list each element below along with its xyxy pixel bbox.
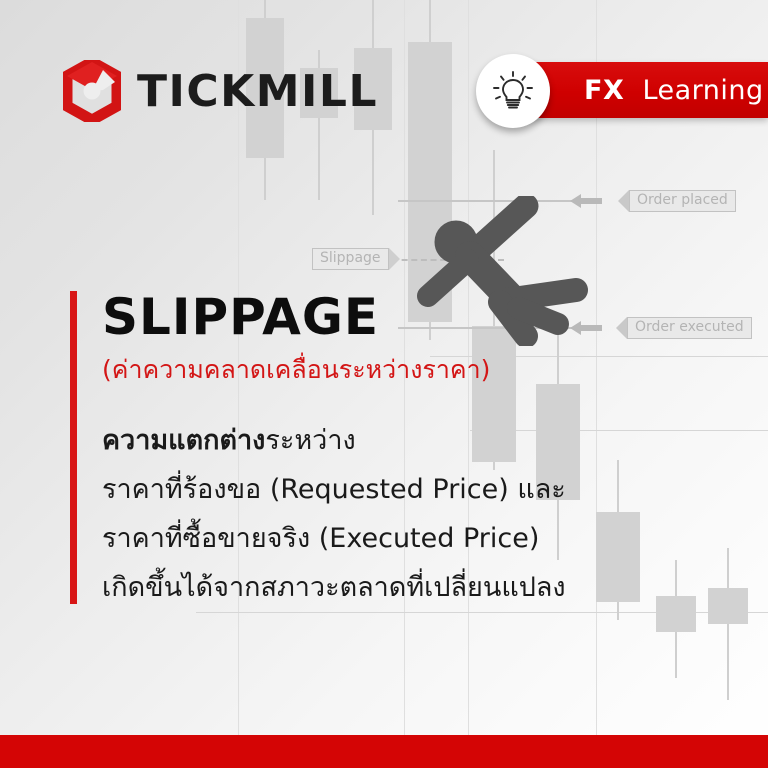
lightbulb-badge [476, 54, 550, 128]
body-line-bold: ความแตกต่าง [102, 425, 265, 456]
hexagon-logo-icon [63, 60, 121, 122]
bottom-red-bar [0, 735, 768, 768]
logo-wordmark: TICKMILL [137, 66, 378, 117]
candlestick [656, 560, 696, 678]
order-placed-callout: Order placed [618, 190, 736, 212]
tickmill-logo: TICKMILL [63, 60, 378, 122]
slippage-label: Slippage [312, 248, 389, 270]
body-line: ความแตกต่างระหว่าง [102, 416, 662, 465]
main-content: SLIPPAGE (ค่าความคลาดเคลื่อนระหว่างราคา)… [102, 288, 662, 612]
body-line-rest: ราคาที่ร้องขอ (Requested Price) และ [102, 474, 566, 505]
body-line: ราคาที่ร้องขอ (Requested Price) และ [102, 465, 662, 514]
body-line-rest: ราคาที่ซื้อขายจริง (Executed Price) [102, 523, 539, 554]
body-line: เกิดขึ้นได้จากสภาวะตลาดที่เปลี่ยนแปลง [102, 563, 662, 612]
fx-suffix: Learning [642, 75, 763, 106]
poster-canvas: Slippage Order placed Order executed [0, 0, 768, 768]
page-title: SLIPPAGE [102, 288, 662, 346]
candlestick [708, 548, 748, 700]
callout-arrow-left-icon [618, 190, 629, 212]
lightbulb-icon [490, 68, 536, 114]
fx-learning-label: FX Learning [584, 75, 764, 106]
fx-learning-banner: FX Learning [520, 62, 768, 118]
fx-prefix: FX [584, 75, 624, 106]
candle-body [708, 588, 748, 624]
candle-body [656, 596, 696, 632]
candle-wick [727, 548, 729, 700]
chart-gridline [196, 612, 768, 613]
slippage-callout: Slippage [312, 248, 400, 270]
candle-wick [675, 560, 677, 678]
callout-arrow-right-icon [389, 248, 400, 270]
body-line: ราคาที่ซื้อขายจริง (Executed Price) [102, 514, 662, 563]
order-placed-label: Order placed [629, 190, 736, 212]
red-accent-bar [70, 291, 77, 604]
body-line-rest: ระหว่าง [265, 425, 355, 456]
page-subtitle: (ค่าความคลาดเคลื่อนระหว่างราคา) [102, 352, 662, 388]
body-text-block: ความแตกต่างระหว่าง ราคาที่ร้องขอ (Reques… [102, 416, 662, 612]
body-line-rest: เกิดขึ้นได้จากสภาวะตลาดที่เปลี่ยนแปลง [102, 572, 566, 603]
